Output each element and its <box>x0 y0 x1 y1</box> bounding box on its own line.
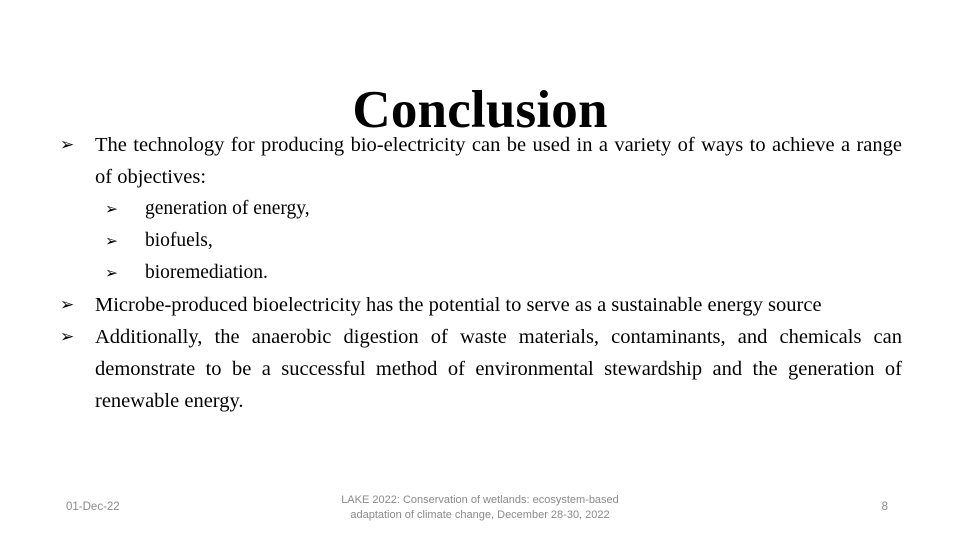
sub-bullet-item: ➢ biofuels, <box>58 225 949 257</box>
sub-bullet-item: ➢ bioremediation. <box>58 257 949 289</box>
footer-conference-title: LAKE 2022: Conservation of wetlands: eco… <box>315 493 645 522</box>
slide-body-content: ➢ The technology for producing bio-elect… <box>58 129 902 417</box>
bullet-item: ➢ Microbe-produced bioelectricity has th… <box>58 289 902 321</box>
bullet-text: The technology for producing bio-electri… <box>95 129 902 193</box>
arrowhead-bullet-icon: ➢ <box>58 129 95 161</box>
bullet-text: Microbe-produced bioelectricity has the … <box>95 289 902 321</box>
slide-footer: 01-Dec-22 LAKE 2022: Conservation of wet… <box>0 490 960 532</box>
sub-bullet-text: biofuels, <box>145 225 949 257</box>
sub-bullet-item: ➢ generation of energy, <box>58 193 949 225</box>
arrowhead-bullet-icon: ➢ <box>105 193 145 225</box>
sub-bullet-text: generation of energy, <box>145 193 949 225</box>
footer-conference-line-1: LAKE 2022: Conservation of wetlands: eco… <box>341 494 619 506</box>
arrowhead-bullet-icon: ➢ <box>58 289 95 321</box>
bullet-item: ➢ Additionally, the anaerobic digestion … <box>58 321 902 417</box>
arrowhead-bullet-icon: ➢ <box>58 321 95 353</box>
arrowhead-bullet-icon: ➢ <box>105 257 145 289</box>
footer-date: 01-Dec-22 <box>66 501 120 513</box>
presentation-slide: Conclusion ➢ The technology for producin… <box>0 0 960 540</box>
sub-bullet-text: bioremediation. <box>145 257 949 289</box>
bullet-item: ➢ The technology for producing bio-elect… <box>58 129 902 193</box>
bullet-text: Additionally, the anaerobic digestion of… <box>95 321 902 417</box>
footer-conference-line-2: adaptation of climate change, December 2… <box>350 509 609 521</box>
arrowhead-bullet-icon: ➢ <box>105 225 145 257</box>
slide-number: 8 <box>882 501 888 513</box>
